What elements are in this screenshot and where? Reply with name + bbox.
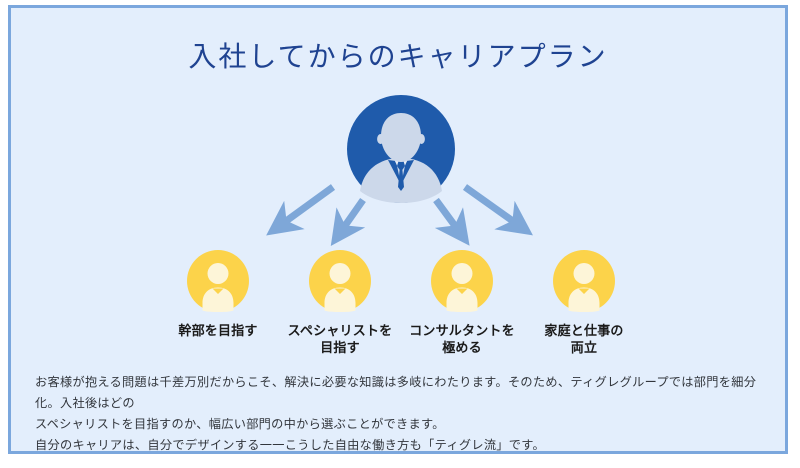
arrow-to-branch-4: [465, 187, 517, 224]
arrow-to-branch-2: [342, 200, 363, 230]
businessman-avatar-icon: [347, 95, 455, 203]
career-branch-item[interactable]: コンサルタントを 極める: [396, 250, 528, 356]
career-plan-slide: 入社してからのキャリアプラン: [8, 5, 788, 454]
career-branch-label-line: 目指す: [274, 339, 406, 356]
career-branch-label-line: 家庭と仕事の: [518, 322, 650, 339]
body-copy-line: スペシャリストを目指すのか、幅広い部門の中から選ぶことができます。: [35, 414, 763, 435]
body-copy-line: 自分のキャリアは、自分でデザインする一一こうした自由な働き方も「ティグレ流」です…: [35, 435, 763, 454]
career-branch-item[interactable]: 幹部を目指す: [152, 250, 284, 339]
career-branch-label-line: 極める: [396, 339, 528, 356]
career-branch-label: 家庭と仕事の 両立: [518, 322, 650, 356]
career-branch-label: スペシャリストを 目指す: [274, 322, 406, 356]
person-avatar-icon: [309, 250, 371, 312]
body-copy-line: お客様が抱える問題は千差万別だからこそ、解決に必要な知識は多岐にわたります。その…: [35, 372, 763, 414]
person-avatar-icon: [431, 250, 493, 312]
arrow-to-branch-3: [436, 200, 458, 230]
career-branch-label: 幹部を目指す: [152, 322, 284, 339]
arrow-to-branch-1: [282, 187, 333, 224]
career-branch-item[interactable]: 家庭と仕事の 両立: [518, 250, 650, 356]
page-title: 入社してからのキャリアプラン: [11, 35, 785, 75]
career-branch-item[interactable]: スペシャリストを 目指す: [274, 250, 406, 356]
body-copy: お客様が抱える問題は千差万別だからこそ、解決に必要な知識は多岐にわたります。その…: [35, 372, 763, 454]
career-branch-label-line: 両立: [518, 339, 650, 356]
person-avatar-icon: [553, 250, 615, 312]
career-branch-label-line: コンサルタントを: [396, 322, 528, 339]
person-avatar-icon: [187, 250, 249, 312]
career-branch-label-line: スペシャリストを: [274, 322, 406, 339]
career-branch-label: コンサルタントを 極める: [396, 322, 528, 356]
